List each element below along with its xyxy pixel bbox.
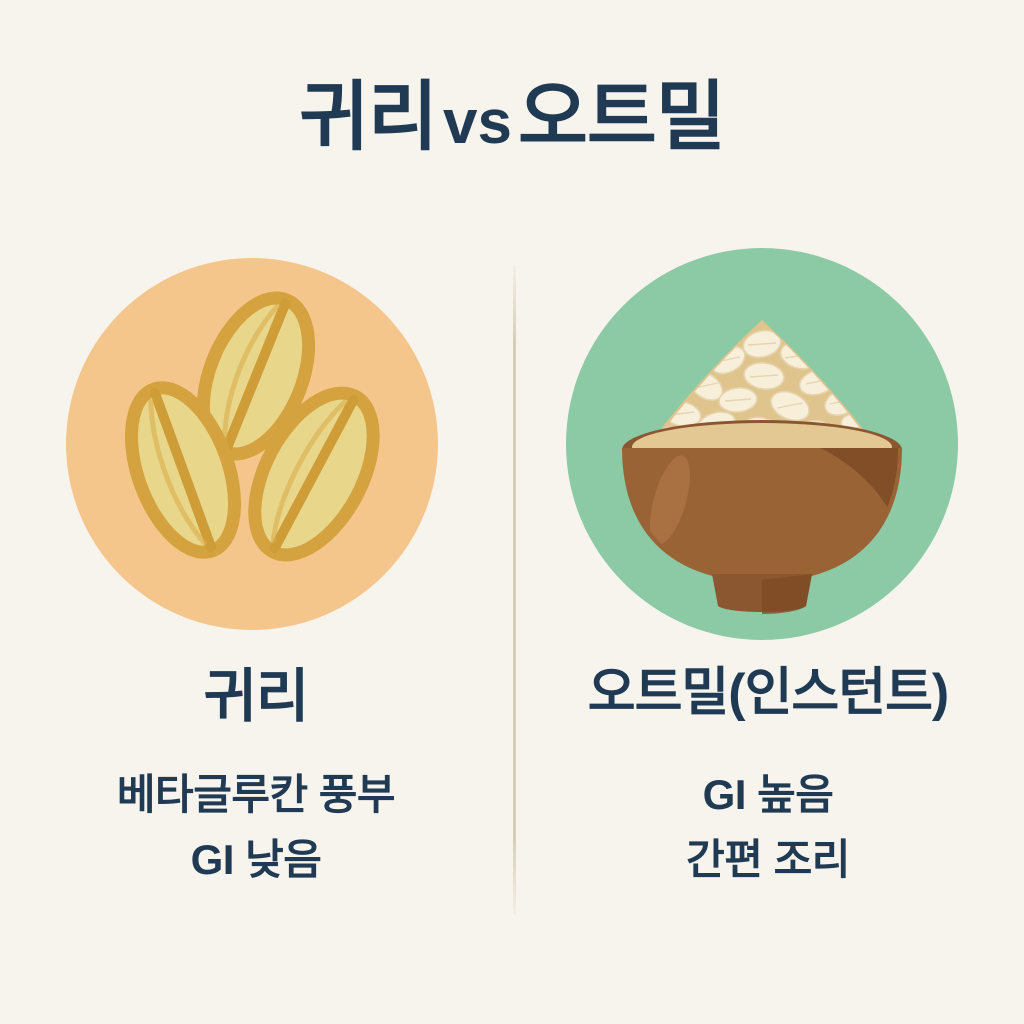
column-oats-whole: 귀리 베타글루칸 풍부 GI 낮음 (0, 0, 512, 1024)
oat-grains-icon (66, 258, 438, 630)
left-bullet-list: 베타글루칸 풍부 GI 낮음 (0, 762, 512, 892)
bowl-foot-shadow (762, 574, 812, 614)
right-bullet-0: GI 높음 (512, 762, 1024, 827)
infographic-canvas: 귀리vs오트밀 (0, 0, 1024, 1024)
right-bullet-list: GI 높음 간편 조리 (512, 762, 1024, 892)
right-bullet-1: 간편 조리 (512, 827, 1024, 892)
column-oatmeal-instant: 오트밀(인스턴트) GI 높음 간편 조리 (512, 0, 1024, 1024)
left-bullet-0: 베타글루칸 풍부 (0, 762, 512, 827)
right-illustration-wrap (512, 258, 1024, 650)
right-label-heading: 오트밀(인스턴트) (512, 665, 1024, 722)
left-illustration-wrap (0, 258, 512, 630)
left-bullet-1: GI 낮음 (0, 827, 512, 892)
oat-grains-circle (66, 258, 438, 630)
left-label-heading: 귀리 (0, 665, 512, 729)
oatmeal-bowl-icon (566, 248, 958, 640)
oatmeal-bowl-circle (566, 248, 958, 640)
